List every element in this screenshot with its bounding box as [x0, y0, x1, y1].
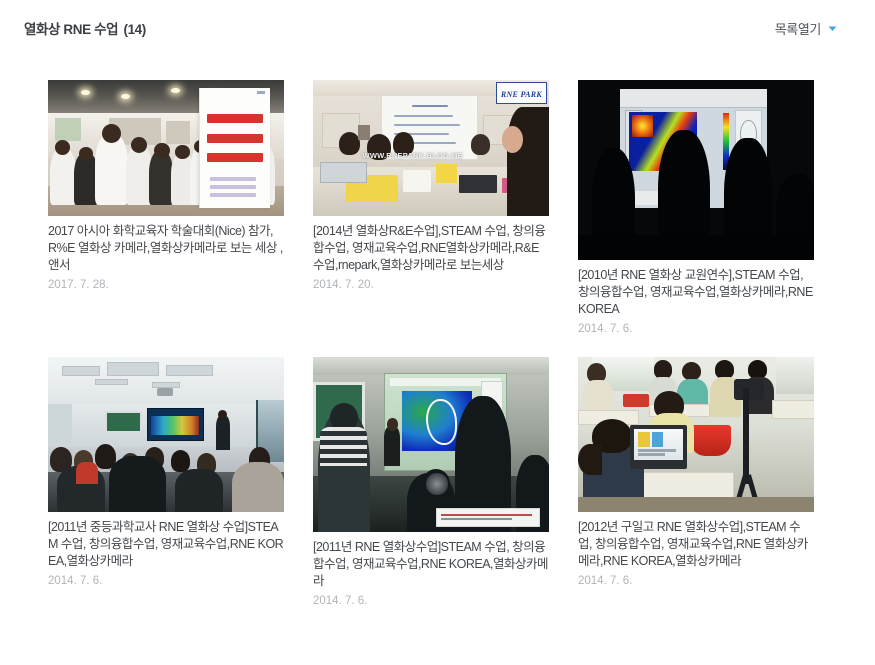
gallery-item-date: 2014. 7. 6. — [578, 575, 843, 587]
gallery-item-date: 2014. 7. 6. — [578, 323, 843, 335]
gallery-item-date: 2017. 7. 28. — [48, 279, 313, 291]
gallery-row: 2017 아시아 화학교육자 학술대회(Nice) 참가,R%E 열화상 카메라… — [24, 80, 851, 335]
gallery-item-caption[interactable]: [2010년 RNE 열화상 교원연수],STEAM 수업, 창의융합수업, 영… — [578, 267, 814, 318]
chevron-down-icon[interactable] — [826, 22, 839, 35]
rne-park-watermark-text: RNE PARK — [501, 90, 542, 99]
gallery-item-caption[interactable]: [2011년 RNE 열화상수업]STEAM 수업, 창의융합수업, 영재교육수… — [313, 539, 549, 590]
thumbnail-classroom-projector[interactable]: WWW.RNEPARK.BLOG.ME RNE PARK — [313, 80, 549, 216]
page-title: 열화상 RNE 수업 (14) — [24, 18, 146, 38]
gallery-item: 2017 아시아 화학교육자 학술대회(Nice) 참가,R%E 열화상 카메라… — [48, 80, 313, 335]
gallery-item: WWW.RNEPARK.BLOG.ME RNE PARK [2014년 열화상R… — [313, 80, 578, 335]
thumbnail-lab-students-tripod[interactable] — [578, 357, 814, 512]
gallery-item-date: 2014. 7. 6. — [48, 575, 313, 587]
gallery-item-caption[interactable]: 2017 아시아 화학교육자 학술대회(Nice) 참가,R%E 열화상 카메라… — [48, 223, 284, 274]
gallery-item: [2012년 구일고 RNE 열화상수업],STEAM 수업, 창의융합수업, … — [578, 357, 843, 607]
page-title-count: (14) — [123, 22, 145, 37]
rne-park-watermark: RNE PARK — [496, 82, 547, 104]
page-title-text: 열화상 RNE 수업 — [24, 22, 118, 37]
gallery-item: [2010년 RNE 열화상 교원연수],STEAM 수업, 창의융합수업, 영… — [578, 80, 843, 335]
gallery-item: [2011년 RNE 열화상수업]STEAM 수업, 창의융합수업, 영재교육수… — [313, 357, 578, 607]
gallery-item-caption[interactable]: [2014년 열화상R&E수업],STEAM 수업, 창의융합수업, 영재교육수… — [313, 223, 549, 274]
gallery-item-caption[interactable]: [2011년 중등과학교사 RNE 열화상 수업]STEAM 수업, 창의융합수… — [48, 519, 284, 570]
thumbnail-dark-thermal-projection[interactable] — [578, 80, 814, 260]
page-header: 열화상 RNE 수업 (14) 목록열기 — [0, 0, 875, 56]
thumbnail-lecture-hall[interactable] — [48, 357, 284, 512]
gallery-item-date: 2014. 7. 20. — [313, 279, 578, 291]
photo-url-overlay: WWW.RNEPARK.BLOG.ME — [363, 151, 463, 160]
gallery-item-date: 2014. 7. 6. — [313, 595, 578, 607]
thumbnail-classroom-big-projection[interactable] — [313, 357, 549, 532]
gallery-item-caption[interactable]: [2012년 구일고 RNE 열화상수업],STEAM 수업, 창의융합수업, … — [578, 519, 814, 570]
list-open-toggle-label: 목록열기 — [775, 19, 821, 38]
gallery-grid: 2017 아시아 화학교육자 학술대회(Nice) 참가,R%E 열화상 카메라… — [0, 80, 875, 607]
gallery-item: [2011년 중등과학교사 RNE 열화상 수업]STEAM 수업, 창의융합수… — [48, 357, 313, 607]
gallery-row: [2011년 중등과학교사 RNE 열화상 수업]STEAM 수업, 창의융합수… — [24, 357, 851, 607]
photo-url-bar — [436, 508, 540, 527]
thumbnail-exhibition-hall[interactable] — [48, 80, 284, 216]
list-open-toggle[interactable]: 목록열기 — [775, 19, 839, 38]
